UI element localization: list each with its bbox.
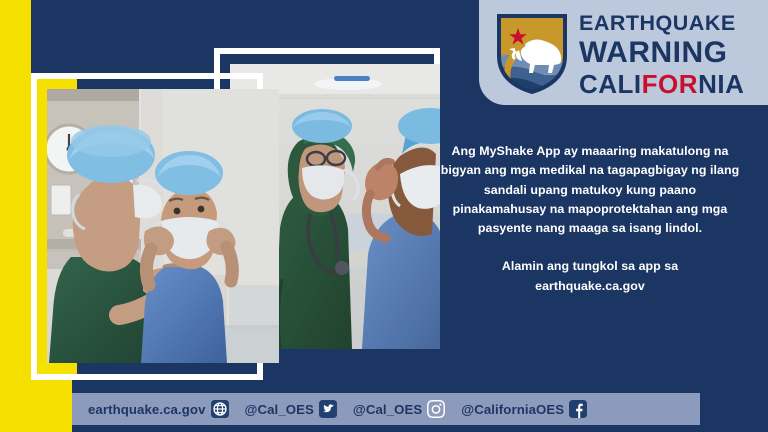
footer-item-website[interactable]: earthquake.ca.gov [88, 400, 245, 418]
footer-label-twitter: @Cal_OES [245, 402, 314, 417]
globe-icon[interactable] [211, 400, 229, 418]
logo-line-earthquake: EARTHQUAKE [579, 13, 759, 35]
message-block: Ang MyShake App ay maaaring makatulong n… [440, 142, 740, 296]
california-bear-shield-icon [495, 12, 569, 94]
footer-label-facebook: @CaliforniaOES [461, 402, 564, 417]
message-cta-line1: Alamin ang tungkol sa app sa [440, 257, 740, 276]
logo-line-california: CALIFORNIA [579, 71, 759, 97]
brand-header-band: EARTHQUAKE WARNING CALIFORNIA [479, 0, 768, 105]
social-footer-bar: earthquake.ca.gov @Cal_OES [72, 393, 700, 425]
brand-logo-text: EARTHQUAKE WARNING CALIFORNIA [579, 13, 759, 97]
message-cta-url: earthquake.ca.gov [440, 277, 740, 296]
photo-medical-staff-left [47, 89, 279, 363]
footer-item-facebook[interactable]: @CaliforniaOES [461, 400, 587, 418]
logo-for: FOR [642, 69, 698, 99]
facebook-icon[interactable] [569, 400, 587, 418]
twitter-icon[interactable] [319, 400, 337, 418]
footer-label-website: earthquake.ca.gov [88, 402, 206, 417]
poster-canvas: EARTHQUAKE WARNING CALIFORNIA Ang MyShak… [0, 0, 768, 432]
footer-item-twitter[interactable]: @Cal_OES [245, 400, 353, 418]
photo-left-artwork [47, 89, 279, 363]
paragraph-spacer [440, 238, 740, 257]
message-paragraph-primary: Ang MyShake App ay maaaring makatulong n… [440, 142, 740, 238]
logo-line-warning: WARNING [579, 38, 759, 68]
logo-nia: NIA [698, 69, 744, 99]
logo-cali: CALI [579, 69, 642, 99]
instagram-icon[interactable] [427, 400, 445, 418]
footer-item-instagram[interactable]: @Cal_OES [353, 400, 461, 418]
footer-label-instagram: @Cal_OES [353, 402, 422, 417]
